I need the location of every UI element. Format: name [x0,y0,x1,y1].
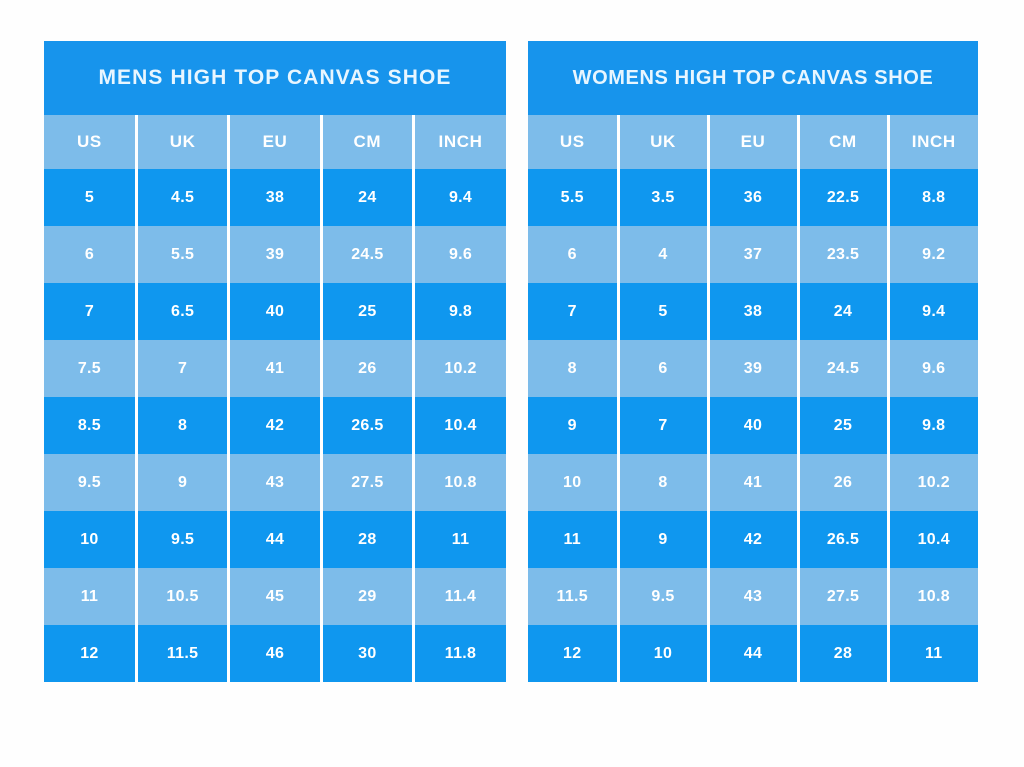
cell-cm: 25 [798,397,888,454]
cell-uk: 6 [618,340,708,397]
table-row: 54.538249.4 [44,169,506,226]
cell-eu: 41 [229,340,321,397]
cell-us: 11 [528,511,618,568]
cell-cm: 24 [798,283,888,340]
cell-eu: 43 [708,568,798,625]
mens-chart-title: MENS HIGH TOP CANVAS SHOE [44,41,506,115]
cell-eu: 44 [229,511,321,568]
table-row: 7.57412610.2 [44,340,506,397]
cell-us: 8 [528,340,618,397]
cell-eu: 40 [229,283,321,340]
cell-uk: 9.5 [136,511,228,568]
cell-inch: 11.4 [414,568,506,625]
cell-eu: 38 [229,169,321,226]
cell-us: 6 [44,226,136,283]
cell-cm: 22.5 [798,169,888,226]
cell-eu: 44 [708,625,798,682]
cell-cm: 26.5 [321,397,413,454]
cell-inch: 9.2 [888,226,978,283]
cell-eu: 46 [229,625,321,682]
cell-us: 7 [44,283,136,340]
cell-cm: 25 [321,283,413,340]
womens-chart-title: WOMENS HIGH TOP CANVAS SHOE [528,41,978,115]
table-row: 643723.59.2 [528,226,978,283]
cell-us: 9 [528,397,618,454]
table-row: 1110.5452911.4 [44,568,506,625]
womens-table-body: 5.53.53622.58.8643723.59.27538249.486392… [528,169,978,682]
cell-uk: 8 [136,397,228,454]
column-header-cm: CM [321,115,413,169]
cell-cm: 28 [321,511,413,568]
cell-inch: 9.4 [888,283,978,340]
womens-size-chart: WOMENS HIGH TOP CANVAS SHOE USUKEUCMINCH… [528,41,978,682]
cell-cm: 26 [798,454,888,511]
cell-uk: 6.5 [136,283,228,340]
table-row: 5.53.53622.58.8 [528,169,978,226]
cell-uk: 9 [136,454,228,511]
cell-uk: 8 [618,454,708,511]
table-header-row: USUKEUCMINCH [528,115,978,169]
table-row: 109.5442811 [44,511,506,568]
cell-us: 6 [528,226,618,283]
table-row: 11.59.54327.510.8 [528,568,978,625]
cell-inch: 9.8 [414,283,506,340]
column-header-eu: EU [708,115,798,169]
cell-eu: 45 [229,568,321,625]
column-header-inch: INCH [888,115,978,169]
womens-size-table: USUKEUCMINCH 5.53.53622.58.8643723.59.27… [528,115,978,682]
cell-us: 7.5 [44,340,136,397]
cell-uk: 11.5 [136,625,228,682]
cell-cm: 24.5 [798,340,888,397]
cell-cm: 27.5 [798,568,888,625]
mens-table-header: USUKEUCMINCH [44,115,506,169]
cell-eu: 43 [229,454,321,511]
cell-cm: 28 [798,625,888,682]
cell-us: 8.5 [44,397,136,454]
cell-us: 11.5 [528,568,618,625]
cell-uk: 10 [618,625,708,682]
cell-cm: 30 [321,625,413,682]
cell-cm: 27.5 [321,454,413,511]
column-header-us: US [44,115,136,169]
cell-inch: 9.4 [414,169,506,226]
cell-us: 5 [44,169,136,226]
cell-us: 10 [44,511,136,568]
cell-uk: 7 [136,340,228,397]
column-header-uk: UK [136,115,228,169]
table-row: 9.594327.510.8 [44,454,506,511]
column-header-cm: CM [798,115,888,169]
cell-uk: 10.5 [136,568,228,625]
table-header-row: USUKEUCMINCH [44,115,506,169]
table-row: 863924.59.6 [528,340,978,397]
cell-inch: 9.6 [414,226,506,283]
table-row: 9740259.8 [528,397,978,454]
cell-us: 10 [528,454,618,511]
size-chart-page: MENS HIGH TOP CANVAS SHOE USUKEUCMINCH 5… [0,0,1024,767]
column-header-eu: EU [229,115,321,169]
cell-us: 7 [528,283,618,340]
cell-eu: 39 [708,340,798,397]
cell-uk: 9.5 [618,568,708,625]
cell-uk: 5 [618,283,708,340]
cell-inch: 9.6 [888,340,978,397]
cell-cm: 24.5 [321,226,413,283]
table-row: 1194226.510.4 [528,511,978,568]
cell-cm: 29 [321,568,413,625]
table-row: 7538249.4 [528,283,978,340]
mens-size-table: USUKEUCMINCH 54.538249.465.53924.59.676.… [44,115,506,682]
cell-us: 5.5 [528,169,618,226]
table-row: 1211.5463011.8 [44,625,506,682]
column-header-inch: INCH [414,115,506,169]
cell-cm: 26.5 [798,511,888,568]
cell-uk: 4 [618,226,708,283]
cell-cm: 24 [321,169,413,226]
cell-eu: 42 [708,511,798,568]
table-row: 1210442811 [528,625,978,682]
cell-eu: 38 [708,283,798,340]
womens-table-header: USUKEUCMINCH [528,115,978,169]
cell-inch: 10.4 [888,511,978,568]
cell-inch: 9.8 [888,397,978,454]
cell-inch: 10.8 [888,568,978,625]
cell-us: 12 [528,625,618,682]
mens-table-body: 54.538249.465.53924.59.676.540259.87.574… [44,169,506,682]
cell-us: 12 [44,625,136,682]
table-row: 8.584226.510.4 [44,397,506,454]
cell-inch: 11.8 [414,625,506,682]
cell-inch: 10.4 [414,397,506,454]
cell-uk: 4.5 [136,169,228,226]
cell-inch: 10.8 [414,454,506,511]
cell-us: 11 [44,568,136,625]
cell-uk: 7 [618,397,708,454]
cell-inch: 10.2 [414,340,506,397]
cell-eu: 37 [708,226,798,283]
column-header-us: US [528,115,618,169]
cell-eu: 41 [708,454,798,511]
cell-eu: 39 [229,226,321,283]
cell-uk: 3.5 [618,169,708,226]
cell-inch: 8.8 [888,169,978,226]
mens-size-chart: MENS HIGH TOP CANVAS SHOE USUKEUCMINCH 5… [44,41,506,682]
table-row: 65.53924.59.6 [44,226,506,283]
cell-uk: 9 [618,511,708,568]
column-header-uk: UK [618,115,708,169]
cell-eu: 42 [229,397,321,454]
table-row: 76.540259.8 [44,283,506,340]
cell-eu: 40 [708,397,798,454]
cell-us: 9.5 [44,454,136,511]
cell-cm: 26 [321,340,413,397]
cell-inch: 11 [888,625,978,682]
table-row: 108412610.2 [528,454,978,511]
cell-uk: 5.5 [136,226,228,283]
cell-inch: 11 [414,511,506,568]
cell-eu: 36 [708,169,798,226]
cell-cm: 23.5 [798,226,888,283]
cell-inch: 10.2 [888,454,978,511]
